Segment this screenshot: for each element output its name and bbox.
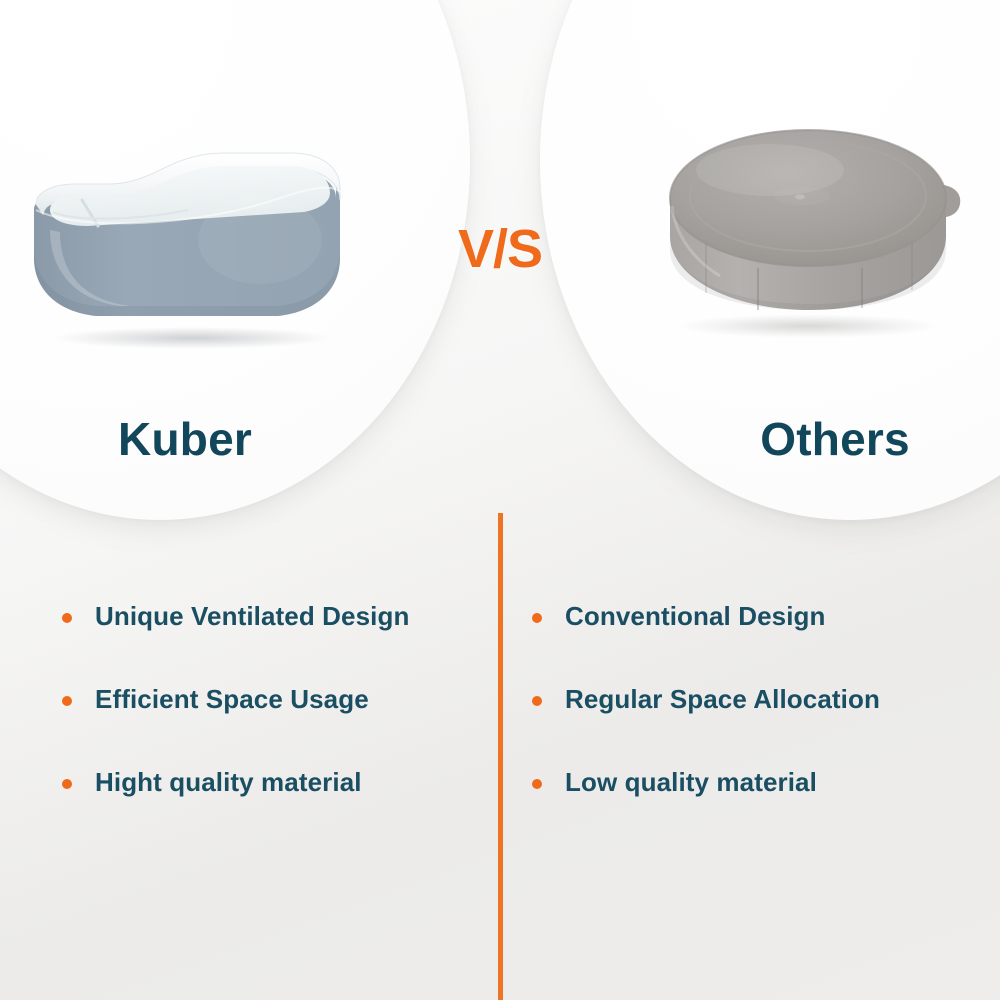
feature-label: Low quality material — [565, 766, 817, 800]
bullet-icon — [532, 613, 542, 623]
vs-separator: V/S — [0, 218, 1000, 280]
feature-label: Conventional Design — [565, 600, 825, 634]
column-title-kuber: Kuber — [0, 412, 385, 466]
bullet-icon — [532, 696, 542, 706]
bullet-icon — [532, 779, 542, 789]
feature-list-others: Conventional Design Regular Space Alloca… — [532, 600, 962, 849]
bullet-icon — [62, 779, 72, 789]
list-item: Efficient Space Usage — [62, 683, 492, 766]
list-item: Low quality material — [532, 766, 962, 849]
feature-label: Unique Ventilated Design — [95, 600, 409, 634]
feature-list-kuber: Unique Ventilated Design Efficient Space… — [62, 600, 492, 849]
list-item: Hight quality material — [62, 766, 492, 849]
list-item: Regular Space Allocation — [532, 683, 962, 766]
list-item: Unique Ventilated Design — [62, 600, 492, 683]
feature-label: Regular Space Allocation — [565, 683, 880, 717]
bullet-icon — [62, 613, 72, 623]
comparison-page: V/S Kuber Others Unique Ventilated Desig… — [0, 0, 1000, 1000]
column-title-others: Others — [635, 412, 1000, 466]
list-item: Conventional Design — [532, 600, 962, 683]
bullet-icon — [62, 696, 72, 706]
feature-label: Efficient Space Usage — [95, 683, 369, 717]
feature-label: Hight quality material — [95, 766, 362, 800]
vertical-divider — [498, 513, 503, 1000]
